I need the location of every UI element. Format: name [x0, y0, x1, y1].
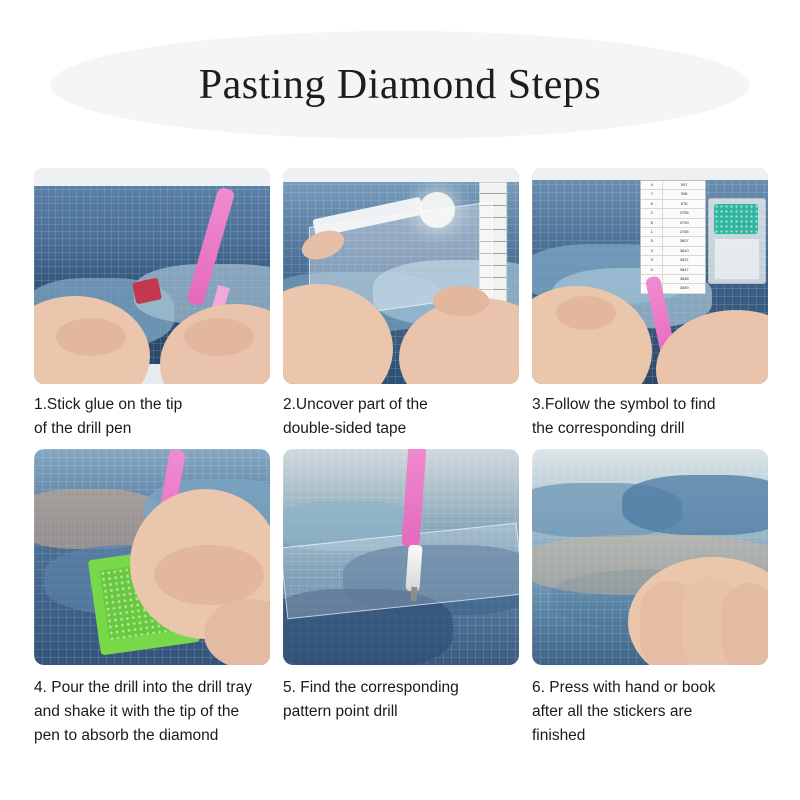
scene-mountain — [622, 475, 768, 535]
step-card-4: 4. Pour the drill into the drill tray an… — [34, 449, 270, 748]
pen-needle — [411, 587, 418, 601]
chart-symbol: 9 — [641, 256, 663, 264]
chart-symbol: 2 — [641, 209, 663, 217]
container-lower — [714, 238, 760, 280]
title-banner: Pasting Diamond Steps — [0, 30, 800, 140]
chart-code: 3849 — [663, 284, 705, 292]
finger — [722, 583, 768, 665]
step-card-5: 5. Find the corresponding pattern point … — [283, 449, 519, 748]
step-5-image — [283, 449, 519, 665]
chart-symbol: 1 — [641, 228, 663, 236]
step-3-image: 4597 7598 6676 23755 83790 13765 53807 3… — [532, 168, 768, 384]
chart-code: 3847 — [663, 266, 705, 274]
chart-code: 3790 — [663, 219, 705, 227]
step-2-image — [283, 168, 519, 384]
finger — [56, 318, 126, 356]
page-title: Pasting Diamond Steps — [199, 61, 602, 109]
chart-symbol: 3 — [641, 247, 663, 255]
chart-code: 3755 — [663, 209, 705, 217]
step-3-caption: 3.Follow the symbol to find the correspo… — [532, 393, 768, 441]
step-1-image — [34, 168, 270, 384]
chart-code: 3837 — [663, 256, 705, 264]
instruction-poster: Pasting Diamond Steps — [0, 0, 800, 800]
chart-symbol: 0 — [641, 266, 663, 274]
chart-symbol: 8 — [641, 219, 663, 227]
finger — [556, 296, 616, 330]
chart-code: 676 — [663, 200, 705, 208]
step-card-1: 1.Stick glue on the tip of the drill pen — [34, 168, 270, 441]
chart-code: 3765 — [663, 228, 705, 236]
finger — [433, 286, 489, 316]
step-card-6: 6. Press with hand or book after all the… — [532, 449, 768, 748]
canvas-edge — [34, 168, 270, 186]
step-4-image — [34, 449, 270, 665]
finger — [154, 545, 264, 605]
chart-symbol: 5 — [641, 237, 663, 245]
step-2-caption: 2.Uncover part of the double-sided tape — [283, 393, 519, 441]
step-card-3: 4597 7598 6676 23755 83790 13765 53807 3… — [532, 168, 768, 441]
step-6-caption: 6. Press with hand or book after all the… — [532, 676, 768, 748]
step-4-caption: 4. Pour the drill into the drill tray an… — [34, 676, 270, 748]
title-pill: Pasting Diamond Steps — [50, 31, 750, 139]
chart-code: 3807 — [663, 237, 705, 245]
canvas-edge — [532, 168, 768, 180]
chart-code: 3810 — [663, 247, 705, 255]
step-6-image — [532, 449, 768, 665]
chart-code: 3848 — [663, 275, 705, 283]
drills-in-container — [714, 204, 758, 234]
chart-symbol: 4 — [641, 181, 663, 189]
step-1-caption: 1.Stick glue on the tip of the drill pen — [34, 393, 270, 441]
chart-code: 597 — [663, 181, 705, 189]
chart-code: 598 — [663, 190, 705, 198]
step-5-caption: 5. Find the corresponding pattern point … — [283, 676, 519, 724]
steps-grid: 1.Stick glue on the tip of the drill pen — [34, 168, 768, 748]
chart-symbol: 7 — [641, 190, 663, 198]
finger — [184, 318, 254, 356]
chart-symbol: 6 — [641, 200, 663, 208]
step-card-2: 2.Uncover part of the double-sided tape — [283, 168, 519, 441]
canvas-edge — [283, 168, 519, 182]
